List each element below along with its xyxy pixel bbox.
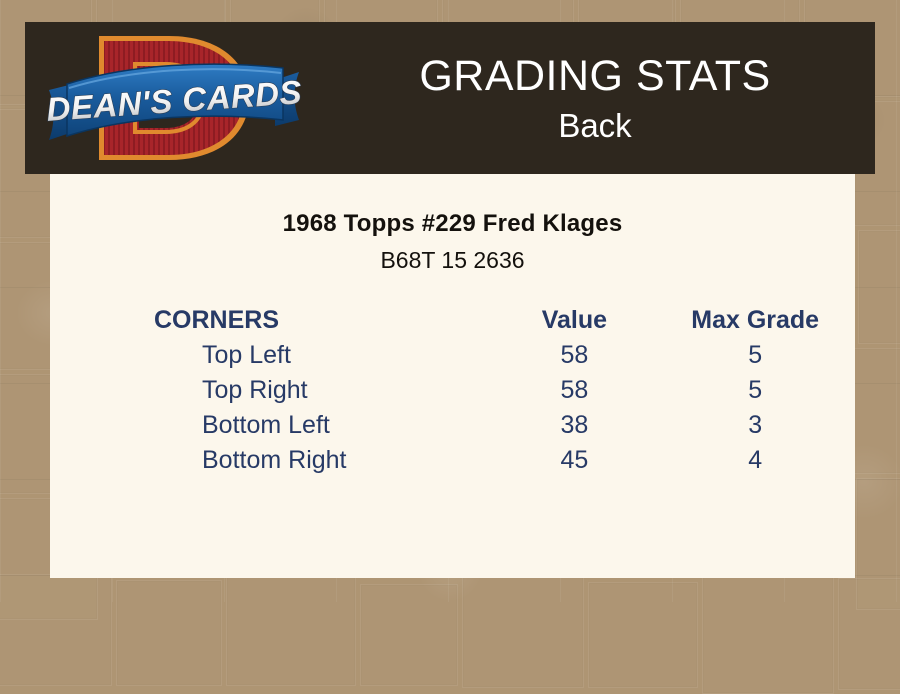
card-id: B68T 15 2636 (50, 247, 855, 274)
column-header-value: Value (493, 303, 655, 338)
row-max-bottom-left: 3 (655, 408, 855, 443)
deans-cards-logo[interactable]: DEAN'S CARDS (43, 28, 305, 168)
page-subtitle: Back (558, 106, 631, 146)
row-label-top-left: Top Left (50, 338, 493, 373)
row-max-top-left: 5 (655, 338, 855, 373)
row-value-top-left: 58 (493, 338, 655, 373)
table-row: Top Left 58 5 (50, 338, 855, 373)
table-row: Bottom Left 38 3 (50, 408, 855, 443)
content-panel: 1968 Topps #229 Fred Klages B68T 15 2636… (50, 174, 855, 578)
page-title: GRADING STATS (419, 51, 770, 101)
row-value-bottom-right: 45 (493, 443, 655, 478)
row-value-top-right: 58 (493, 373, 655, 408)
table-header-row: CORNERS Value Max Grade (50, 303, 855, 338)
row-max-bottom-right: 4 (655, 443, 855, 478)
row-label-bottom-right: Bottom Right (50, 443, 493, 478)
table-body: Top Left 58 5 Top Right 58 5 Bottom Left… (50, 338, 855, 478)
card-title: 1968 Topps #229 Fred Klages (50, 210, 855, 238)
row-max-top-right: 5 (655, 373, 855, 408)
header-bar: DEAN'S CARDS GRADING STATS Back (25, 22, 875, 174)
table-row: Bottom Right 45 4 (50, 443, 855, 478)
column-header-max-grade: Max Grade (655, 303, 855, 338)
column-header-corners: CORNERS (50, 303, 493, 338)
header-title-group: GRADING STATS Back (325, 22, 865, 174)
grading-stats-table: CORNERS Value Max Grade Top Left 58 5 To… (50, 303, 855, 478)
table-header: CORNERS Value Max Grade (50, 303, 855, 338)
row-value-bottom-left: 38 (493, 408, 655, 443)
row-label-bottom-left: Bottom Left (50, 408, 493, 443)
logo-artwork: DEAN'S CARDS (43, 28, 305, 168)
row-label-top-right: Top Right (50, 373, 493, 408)
table-row: Top Right 58 5 (50, 373, 855, 408)
